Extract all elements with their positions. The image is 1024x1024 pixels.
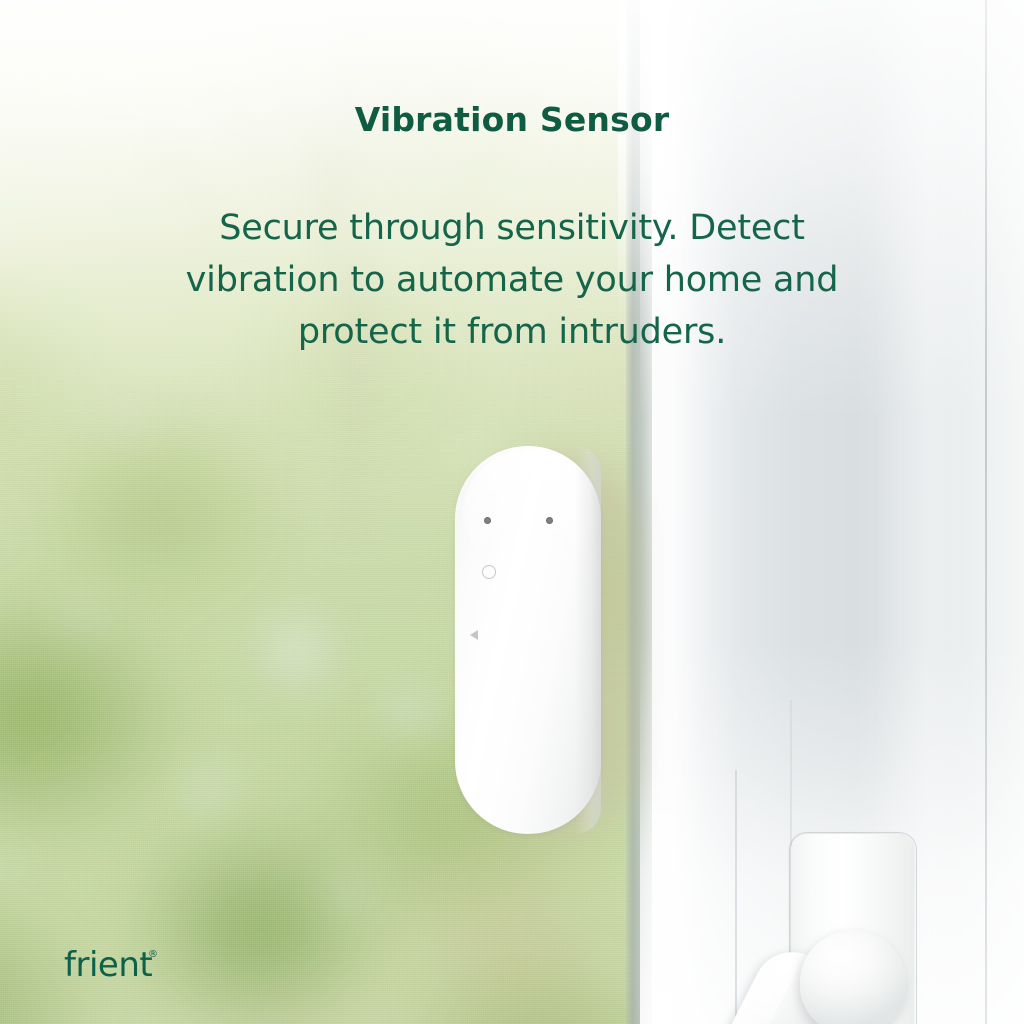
subtitle-line-2: vibration to automate your home and xyxy=(132,254,892,306)
subtitle-line-3: protect it from intruders. xyxy=(132,306,892,358)
subtitle-line-1: Secure through sensitivity. Detect xyxy=(132,202,892,254)
frame-seam-inner xyxy=(735,770,737,1024)
brand-logo-wordmark: frient xyxy=(64,945,152,985)
sensor-gloss-highlight xyxy=(463,451,593,571)
brand-logo: frient ® xyxy=(64,948,152,982)
alignment-marker-triangle-icon xyxy=(470,630,478,640)
sensor-dot-left-icon xyxy=(484,517,491,524)
sensor-dot-right-icon xyxy=(546,517,553,524)
frame-seam-outer xyxy=(985,0,987,1024)
vibration-sensor-device xyxy=(455,446,601,834)
window-handle-knob[interactable] xyxy=(800,930,906,1024)
page-title: Vibration Sensor xyxy=(0,100,1024,139)
marketing-image: Vibration Sensor Secure through sensitiv… xyxy=(0,0,1024,1024)
subtitle: Secure through sensitivity. Detect vibra… xyxy=(132,202,892,358)
led-indicator-ring-icon xyxy=(482,565,496,579)
registered-trademark-icon: ® xyxy=(148,950,158,960)
sensor-edge-shading xyxy=(575,446,601,834)
